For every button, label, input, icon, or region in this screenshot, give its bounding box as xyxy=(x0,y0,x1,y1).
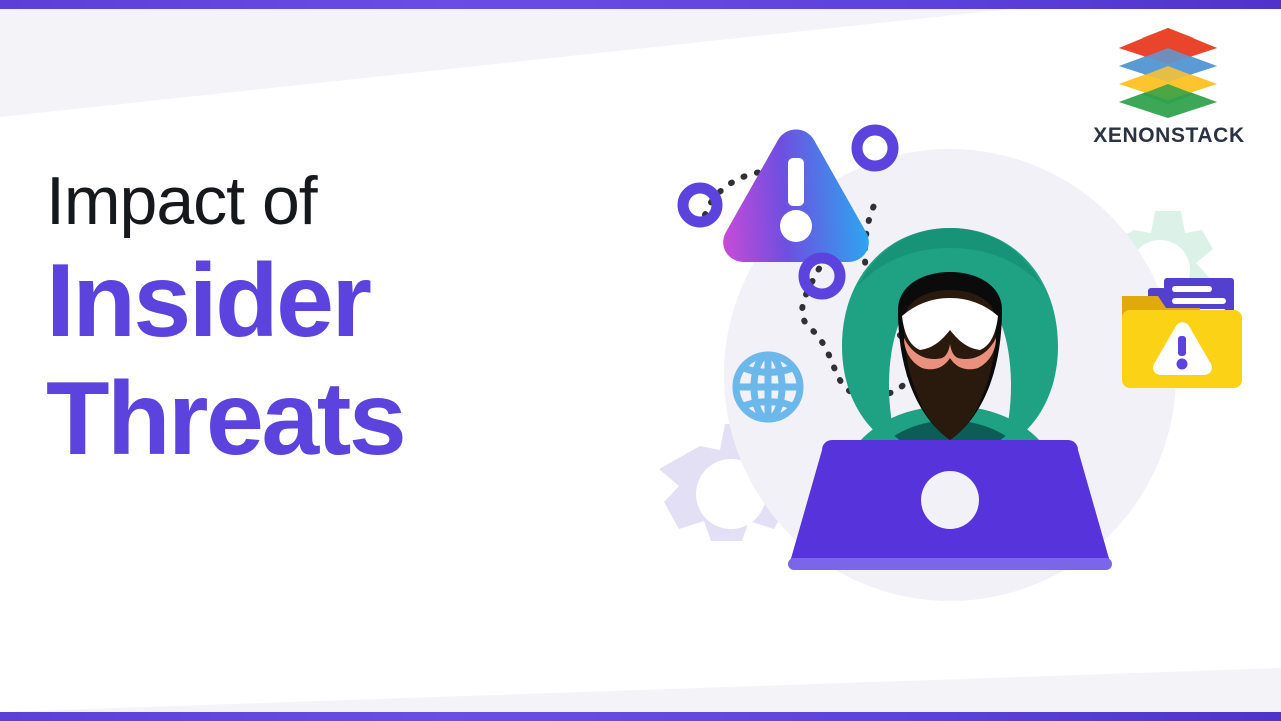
poster-canvas: Impact of Insider Threats xyxy=(0,0,1281,721)
ring-top-right xyxy=(857,130,893,166)
globe-icon xyxy=(736,355,800,419)
folder-alert-icon xyxy=(1122,310,1242,388)
laptop-base xyxy=(788,558,1112,570)
ring-left xyxy=(683,188,717,222)
laptop xyxy=(788,440,1112,570)
title-line-2: Insider xyxy=(46,242,686,360)
title-line-1: Impact of xyxy=(46,160,686,242)
illustration-svg xyxy=(660,110,1260,630)
laptop-logo-icon xyxy=(921,471,979,529)
bottom-accent-bar xyxy=(0,712,1281,721)
title-line-3: Threats xyxy=(46,360,686,478)
page-title: Impact of Insider Threats xyxy=(46,160,686,478)
top-accent-bar xyxy=(0,0,1281,9)
xenonstack-stack-icon xyxy=(1116,26,1220,118)
hero-illustration xyxy=(660,110,1260,630)
